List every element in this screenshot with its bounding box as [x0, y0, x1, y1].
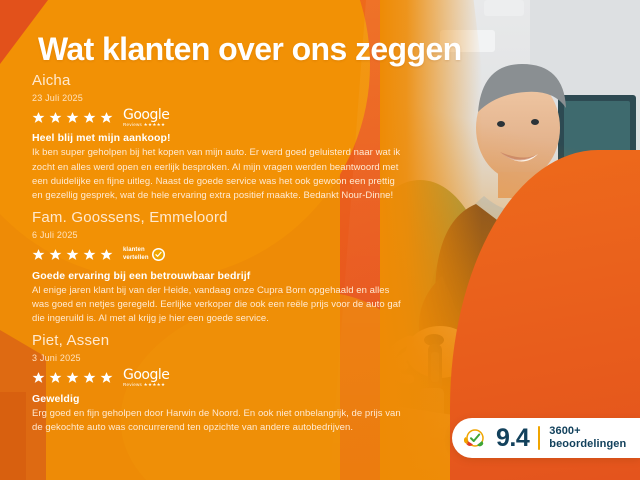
star-icon [32, 111, 45, 124]
star-icon [49, 248, 62, 261]
star-icon [32, 248, 45, 261]
rating-divider [538, 426, 540, 450]
google-reviews-subtitle: Reviews ★★★★★ [123, 123, 165, 128]
review-body: Al enige jaren klant bij van der Heide, … [32, 284, 404, 327]
review-date: 3 Juni 2025 [32, 352, 404, 366]
rating-count: 3600+ [549, 425, 626, 438]
rating-count-block: 3600+ beoordelingen [549, 425, 626, 451]
rating-label: beoordelingen [549, 438, 626, 451]
review-meta: Google Reviews ★★★★★ [32, 108, 404, 126]
star-icon [49, 371, 62, 384]
review-author: Piet, Assen [32, 332, 404, 351]
review-author: Fam. Goossens, Emmeloord [32, 209, 404, 228]
review-item: Piet, Assen 3 Juni 2025 Google Reviews ★… [32, 332, 404, 435]
review-meta: Google Reviews ★★★★★ [32, 369, 404, 387]
star-icon [83, 111, 96, 124]
star-icon [66, 111, 79, 124]
star-icon [83, 371, 96, 384]
star-rating [32, 248, 113, 261]
klantenvertellen-logo: klanten vertellen [123, 247, 165, 262]
kv-line-1: klanten [123, 247, 149, 255]
google-reviews-logo: Google Reviews ★★★★★ [123, 368, 169, 388]
google-reviews-subtitle: Reviews ★★★★★ [123, 383, 165, 388]
star-icon [32, 371, 45, 384]
google-reviews-logo: Google Reviews ★★★★★ [123, 108, 169, 128]
review-title: Goede ervaring bij een betrouwbaar bedri… [32, 270, 404, 282]
star-icon [83, 248, 96, 261]
review-meta: klanten vertellen [32, 246, 404, 264]
star-icon [100, 248, 113, 261]
review-date: 23 Juli 2025 [32, 92, 404, 106]
review-title: Heel blij met mijn aankoop! [32, 132, 404, 144]
review-item: Fam. Goossens, Emmeloord 6 Juli 2025 kla… [32, 209, 404, 326]
review-date: 6 Juli 2025 [32, 229, 404, 243]
background-left-band-dark [0, 392, 26, 480]
kv-line-2: vertellen [123, 255, 149, 263]
star-rating [32, 111, 113, 124]
reviews-list: Aicha 23 Juli 2025 Google Reviews ★★★★★ … [32, 72, 404, 441]
review-author: Aicha [32, 72, 404, 91]
review-item: Aicha 23 Juli 2025 Google Reviews ★★★★★ … [32, 72, 404, 203]
star-icon [66, 248, 79, 261]
rating-badge: 9.4 3600+ beoordelingen [452, 418, 640, 458]
star-rating [32, 371, 113, 384]
salesperson-photo [380, 0, 640, 480]
google-wordmark: Google [123, 368, 169, 382]
page-title: Wat klanten over ons zeggen [38, 32, 462, 67]
klantenvertellen-wordmark: klanten vertellen [123, 247, 149, 262]
rating-score: 9.4 [496, 426, 529, 451]
star-icon [100, 371, 113, 384]
review-body: Ik ben super geholpen bij het kopen van … [32, 146, 404, 203]
star-icon [100, 111, 113, 124]
review-title: Geweldig [32, 393, 404, 405]
star-icon [66, 371, 79, 384]
star-icon [49, 111, 62, 124]
review-body: Erg goed en fijn geholpen door Harwin de… [32, 407, 404, 436]
klantenvertellen-seal-icon [463, 426, 487, 450]
kv-checkmark-badge [152, 248, 165, 261]
google-wordmark: Google [123, 108, 169, 122]
review-banner: Wat klanten over ons zeggen Aicha 23 Jul… [0, 0, 640, 480]
check-circle-icon [153, 249, 164, 260]
